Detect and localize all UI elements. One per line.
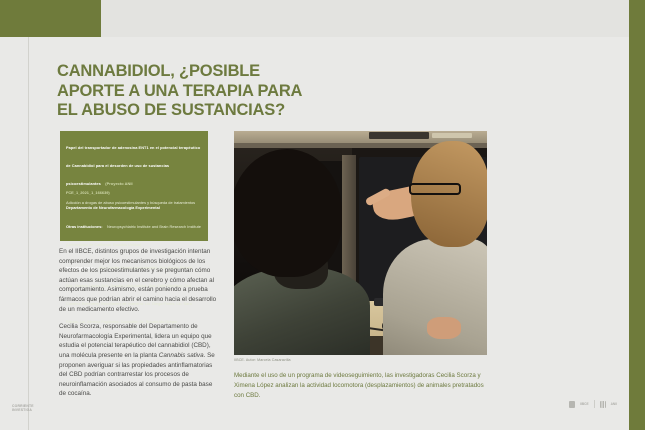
footer-logo-divider: [594, 400, 595, 408]
body-p2-text-d: podrían contrarrestar los procesos de ne…: [59, 371, 212, 397]
research-line-block: Adicción a drogas de abuso psicoestimula…: [66, 200, 201, 210]
anii-logo-icon: [600, 401, 606, 408]
footer-logo-right-1: IIBCE: [580, 402, 589, 406]
photo-person-right-hand: [427, 317, 461, 339]
body-paragraph-1: En el IIBCE, distintos grupos de investi…: [59, 247, 217, 314]
cbd-acronym-2: CBD: [69, 371, 82, 378]
photo-credit: IIBCE. Autor: Marcela Casaravilla: [234, 358, 291, 362]
page-title-line-2: APORTE A UNA TERAPIA PARA: [57, 82, 317, 102]
cbd-acronym-1: CBD: [193, 342, 206, 349]
body-p1-text-a: En el: [59, 248, 75, 255]
institutions-block: Otras instituciones: Neuropsychiatric In…: [66, 215, 201, 251]
page-title-line-3: EL ABUSO DE SUSTANCIAS?: [57, 101, 317, 121]
department-name: Departamento de Neurofarmacología Experi…: [66, 205, 201, 210]
header-band-light: [101, 0, 629, 37]
photo-person-left-hair: [234, 149, 342, 277]
project-tag: (Proyecto ANII: [105, 181, 132, 186]
project-title-block: Papel del transportador de adenosina ENT…: [66, 136, 201, 195]
caption-cbd-acronym: CBD: [246, 392, 259, 399]
left-margin-rule: [28, 37, 29, 430]
caption-text-a: Mediante el uso de un programa de videos…: [234, 372, 484, 399]
photo-shelf-object-dark: [369, 132, 429, 139]
page-title: CANNABIDIOL, ¿POSIBLE APORTE A UNA TERAP…: [57, 62, 317, 121]
cannabis-sativa-italic: Cannabis sativa: [159, 352, 204, 359]
footer-logo-left-line-2: INVESTIGA: [12, 408, 34, 412]
right-edge-band: [629, 0, 645, 430]
photo-shelf-object-light: [432, 133, 472, 138]
footer-logos-right: IIBCE ANII: [569, 400, 617, 408]
body-p2-text-a: Cecilia Scorza, responsable del Departam…: [59, 323, 212, 349]
iibce-acronym: IIBCE: [75, 248, 91, 255]
article-body: En el IIBCE, distintos grupos de investi…: [59, 247, 217, 407]
page-title-line-1: CANNABIDIOL, ¿POSIBLE: [57, 62, 317, 82]
institutions-label: Otras instituciones:: [66, 224, 103, 229]
caption-text-b: .: [259, 392, 261, 399]
iibce-logo-icon: [569, 401, 575, 408]
project-code: FCE_1_2021_1_166639): [66, 190, 201, 195]
body-paragraph-2: Cecilia Scorza, responsable del Departam…: [59, 322, 217, 399]
project-title: Papel del transportador de adenosina ENT…: [66, 145, 200, 186]
footer-logo-right-2: ANII: [611, 402, 617, 406]
photo-cabinet-edge: [342, 155, 356, 285]
article-photo: [234, 131, 487, 355]
project-info-box: Papel del transportador de adenosina ENT…: [60, 131, 208, 241]
footer-logo-left: CORRIENTE INVESTIGA: [12, 404, 34, 412]
photo-person-right-glasses: [409, 183, 461, 195]
photo-caption: Mediante el uso de un programa de videos…: [234, 371, 484, 401]
header-band-accent: [0, 0, 101, 37]
body-p1-text-b: , distintos grupos de investigación inte…: [59, 248, 216, 313]
